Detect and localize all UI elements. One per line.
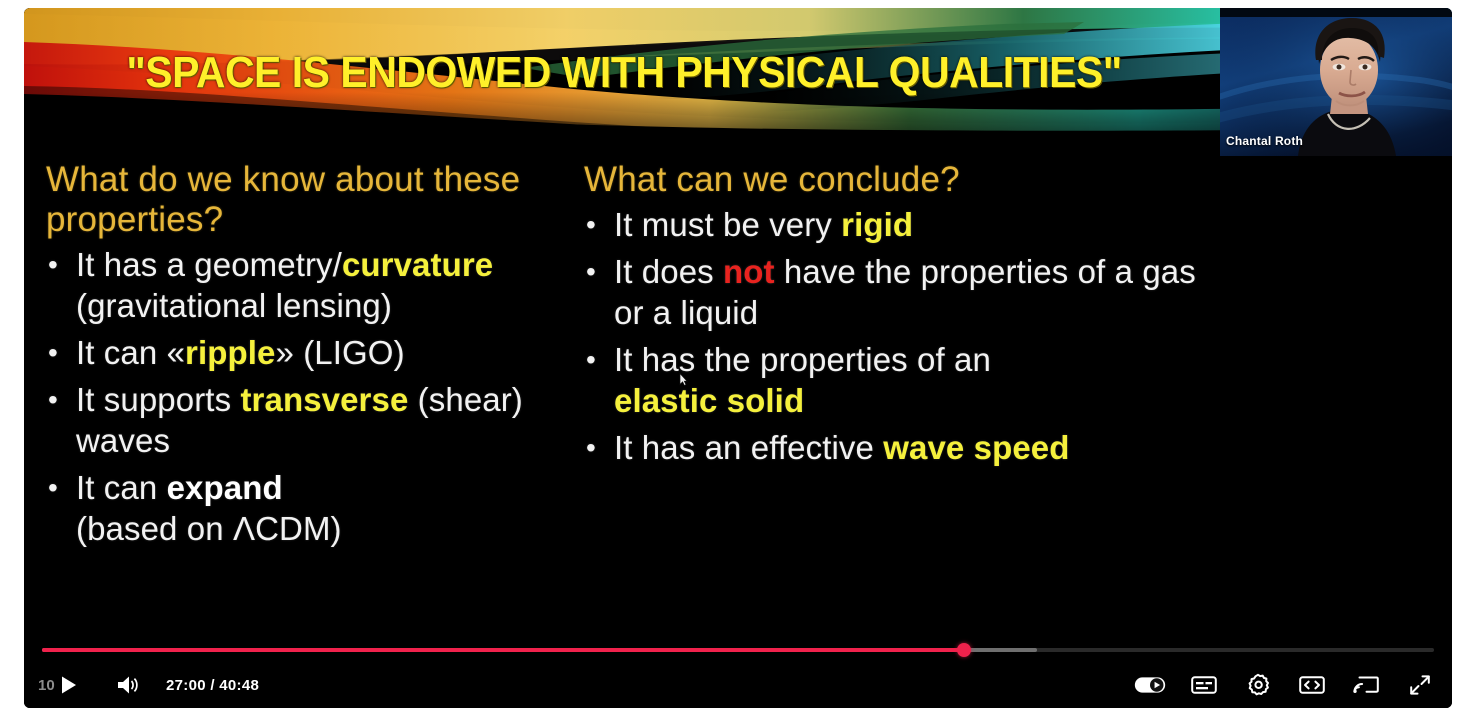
bullet-text: It has the properties of an — [614, 341, 991, 378]
fullscreen-button[interactable] — [1404, 669, 1436, 701]
list-item: It must be very rigid — [584, 204, 1224, 245]
bullet-text: It must be very — [614, 206, 841, 243]
bullet-text: It can « — [76, 334, 185, 371]
bullet-highlight: wave speed — [883, 429, 1069, 466]
bullet-highlight: elastic solid — [614, 382, 804, 419]
slide-body: What do we know about these properties? … — [24, 160, 1452, 630]
bullet-text: It can — [76, 469, 167, 506]
right-column-heading: What can we conclude? — [584, 160, 1224, 200]
bullet-highlight: rigid — [841, 206, 913, 243]
left-column: What do we know about these properties? … — [46, 160, 594, 555]
autoplay-toggle-icon — [1134, 674, 1166, 696]
list-item: It has an effective wave speed — [584, 427, 1224, 468]
video-player[interactable]: "SPACE IS ENDOWED WITH PHYSICAL QUALITIE… — [24, 8, 1452, 708]
bullet-highlight: transverse — [240, 381, 408, 418]
cast-icon — [1353, 674, 1379, 696]
bullet-highlight: not — [723, 253, 775, 290]
subtitles-button[interactable] — [1188, 669, 1220, 701]
bullet-text: It has an effective — [614, 429, 883, 466]
autoplay-toggle[interactable] — [1134, 669, 1166, 701]
bullet-text-cont: (gravitational lensing) — [76, 287, 392, 324]
slide-canvas: "SPACE IS ENDOWED WITH PHYSICAL QUALITIE… — [24, 8, 1452, 708]
play-button[interactable] — [52, 669, 84, 701]
volume-icon — [115, 673, 141, 697]
embed-button[interactable] — [1296, 669, 1328, 701]
progress-scrubber-handle[interactable] — [957, 643, 971, 657]
settings-button[interactable] — [1242, 669, 1274, 701]
expand-arrows-icon — [1408, 673, 1432, 697]
bullet-highlight: ripple — [185, 334, 275, 371]
list-item: It supports transverse (shear) waves — [46, 379, 594, 461]
progress-played — [42, 648, 964, 652]
player-control-bar: 10 27:00 / 40:48 — [24, 630, 1452, 708]
gear-icon — [1246, 673, 1270, 697]
list-item: It has a geometry/curvature(gravitationa… — [46, 244, 594, 326]
right-column-bullets: It must be very rigid It does not have t… — [584, 204, 1224, 468]
bullet-text-cont: (based on ΛCDM) — [76, 510, 342, 547]
subtitles-icon — [1191, 674, 1217, 696]
time-display: 27:00 / 40:48 — [166, 677, 259, 694]
progress-bar[interactable] — [42, 644, 1434, 656]
left-column-heading: What do we know about these properties? — [46, 160, 594, 240]
volume-button[interactable] — [112, 669, 144, 701]
cast-button[interactable] — [1350, 669, 1382, 701]
screenshot-root: "SPACE IS ENDOWED WITH PHYSICAL QUALITIE… — [0, 0, 1466, 710]
embed-code-icon — [1299, 675, 1325, 695]
presenter-webcam-overlay[interactable]: Chantal Roth — [1220, 8, 1452, 156]
bullet-text: It does — [614, 253, 723, 290]
bullet-text: It has a geometry/ — [76, 246, 342, 283]
controls-right-group — [1134, 668, 1436, 702]
list-item: It can «ripple» (LIGO) — [46, 332, 594, 373]
controls-left-group: 10 27:00 / 40:48 — [38, 668, 259, 702]
list-item: It has the properties of an elastic soli… — [584, 339, 1224, 421]
left-column-bullets: It has a geometry/curvature(gravitationa… — [46, 244, 594, 549]
bullet-text: It supports — [76, 381, 240, 418]
slide-title: "SPACE IS ENDOWED WITH PHYSICAL QUALITIE… — [66, 48, 1182, 98]
list-item: It does not have the properties of a gas… — [584, 251, 1224, 333]
presenter-name-label: Chantal Roth — [1226, 134, 1303, 148]
list-item: It can expand(based on ΛCDM) — [46, 467, 594, 549]
play-icon — [56, 673, 80, 697]
bullet-text-cont: » (LIGO) — [276, 334, 405, 371]
bullet-highlight: curvature — [342, 246, 493, 283]
bullet-highlight: expand — [167, 469, 283, 506]
right-column: What can we conclude? It must be very ri… — [584, 160, 1224, 474]
